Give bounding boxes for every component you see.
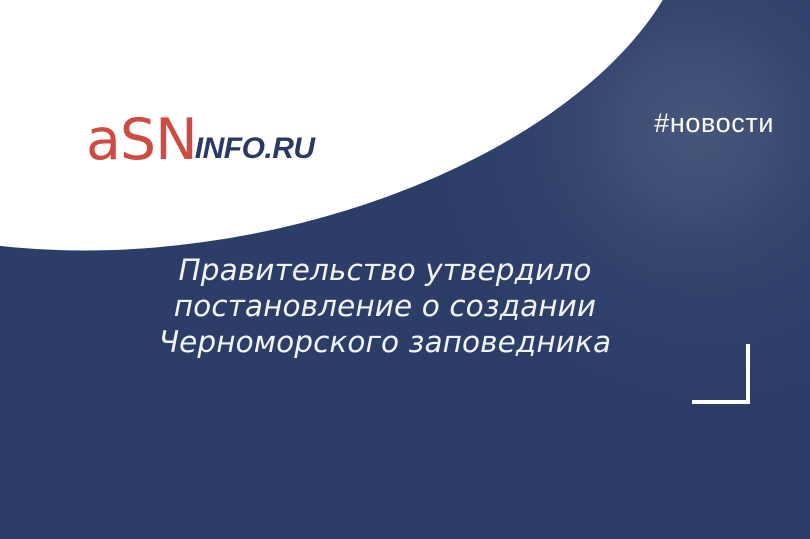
corner-bracket-vertical-bar <box>746 344 750 404</box>
headline-line-1: Правительство утвердило <box>40 252 730 288</box>
corner-bracket-icon <box>692 344 750 404</box>
logo-secondary-text: INFO.RU <box>195 134 315 164</box>
logo-primary-text: aSN <box>86 112 197 169</box>
asninfo-ru-logo[interactable]: aSN INFO.RU <box>86 112 315 169</box>
corner-bracket-horizontal-bar <box>692 400 750 404</box>
headline-line-2: постановление о создании <box>40 288 730 324</box>
news-card: aSN INFO.RU #новости Правительство утвер… <box>0 0 810 539</box>
hashtag-label: #новости <box>654 108 774 139</box>
headline-line-3: Черноморского заповедника <box>40 324 730 360</box>
headline: Правительство утвердило постановление о … <box>40 252 730 360</box>
